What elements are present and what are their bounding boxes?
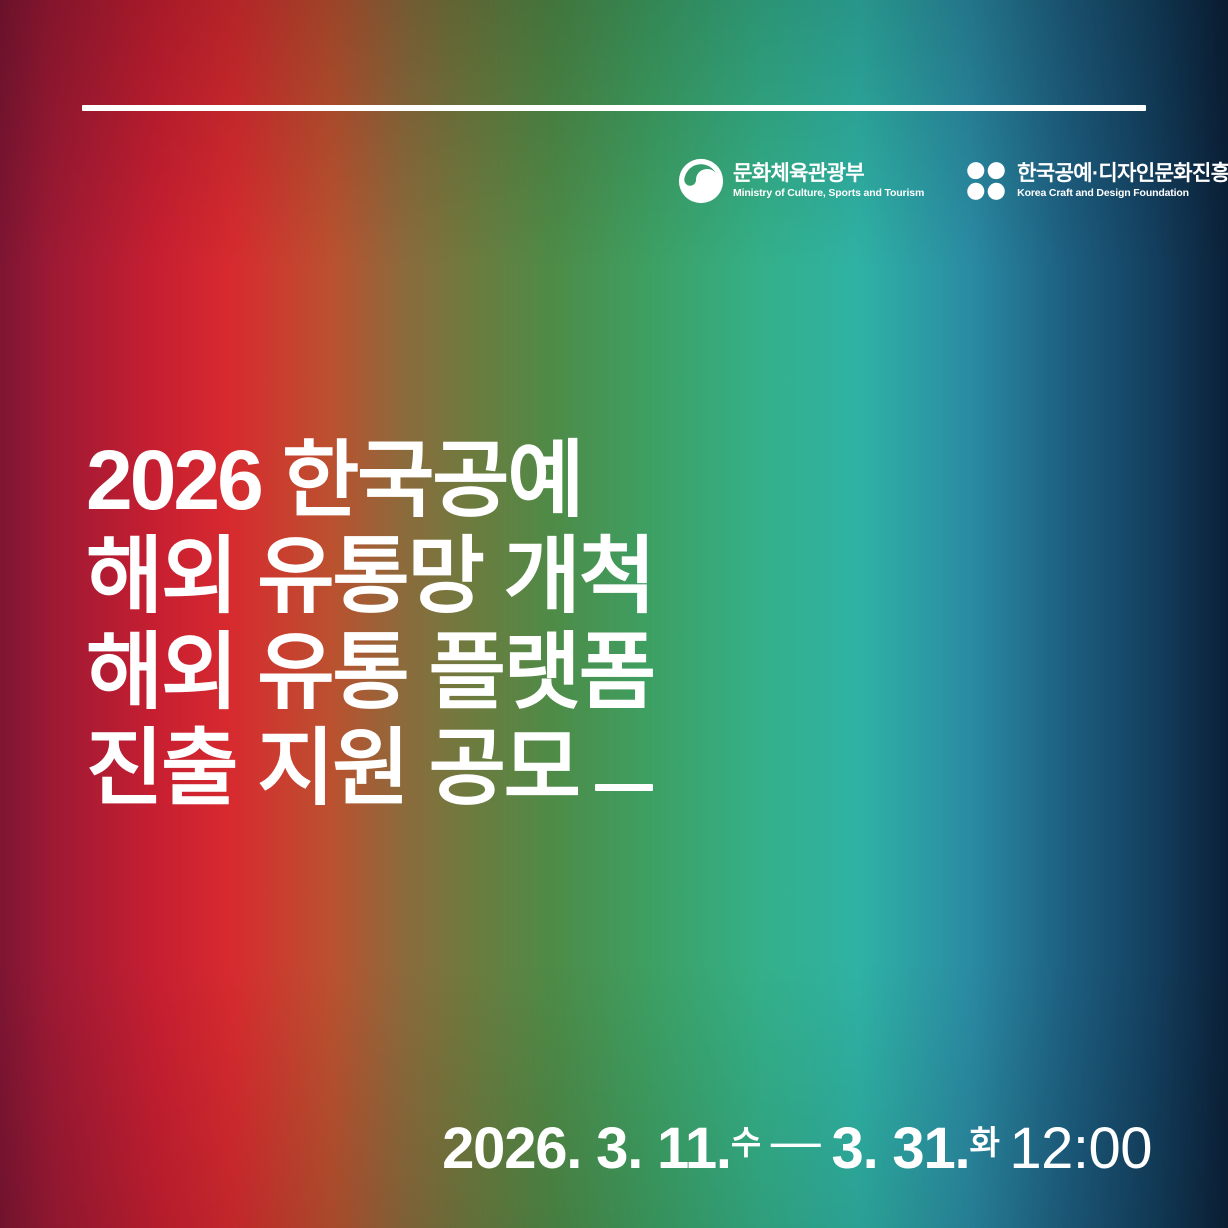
- ministry-logo: 문화체육관광부 Ministry of Culture, Sports and …: [678, 158, 924, 204]
- headline-line-4: 진출 지원 공모: [86, 720, 654, 816]
- poster-canvas: 문화체육관광부 Ministry of Culture, Sports and …: [0, 0, 1228, 1228]
- ministry-logo-text: 문화체육관광부 Ministry of Culture, Sports and …: [733, 163, 924, 199]
- kcdf-logo-text: 한국공예·디자인문화진흥원 Korea Craft and Design Fou…: [1017, 163, 1228, 199]
- headline-line-4-text: 진출 지원 공모: [86, 721, 579, 815]
- start-date: 2026. 3. 11.: [442, 1120, 731, 1178]
- ministry-name-ko: 문화체육관광부: [733, 163, 924, 184]
- end-time: 12:00: [1009, 1120, 1152, 1178]
- application-period: 2026. 3. 11.수 — 3. 31.화 12:00: [442, 1120, 1152, 1178]
- start-day-of-week: 수: [731, 1126, 761, 1159]
- headline-year: 2026: [86, 433, 261, 527]
- headline-line-2: 해외 유통망 개척: [86, 528, 654, 624]
- headline-block: 2026 한국공예 해외 유통망 개척 해외 유통 플랫폼 진출 지원 공모: [86, 432, 654, 816]
- end-day-of-week: 화: [969, 1126, 999, 1159]
- ministry-name-en: Ministry of Culture, Sports and Tourism: [733, 188, 924, 199]
- headline-line-1-rest: 한국공예: [282, 433, 582, 527]
- headline-line-3: 해외 유통 플랫폼: [86, 624, 654, 720]
- kcdf-name-ko: 한국공예·디자인문화진흥원: [1017, 163, 1228, 184]
- taegeuk-swirl-icon: [678, 158, 724, 204]
- top-divider-rule: [82, 105, 1146, 111]
- kcdf-name-en: Korea Craft and Design Foundation: [1017, 188, 1228, 199]
- kcdf-logo: 한국공예·디자인문화진흥원 Korea Craft and Design Fou…: [964, 159, 1228, 203]
- headline-underscore-accent: [595, 784, 653, 791]
- headline-line-1: 2026 한국공예: [86, 432, 654, 528]
- four-petal-icon: [964, 159, 1008, 203]
- date-range-separator: —: [771, 1116, 820, 1166]
- end-date: 3. 31.: [832, 1120, 970, 1178]
- logo-row: 문화체육관광부 Ministry of Culture, Sports and …: [678, 158, 1228, 204]
